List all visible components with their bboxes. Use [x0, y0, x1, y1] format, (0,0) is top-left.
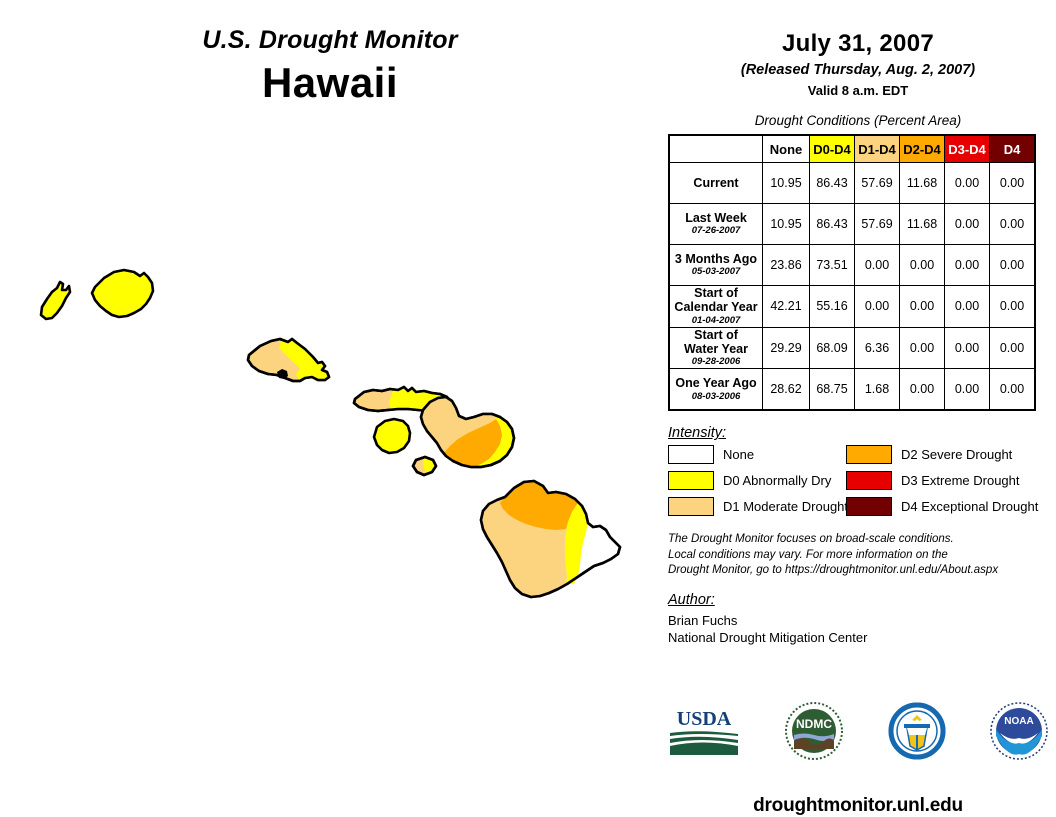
table-cell: 0.00 [945, 327, 990, 369]
table-cell: 0.00 [945, 369, 990, 411]
svg-text:NOAA: NOAA [1004, 716, 1033, 727]
table-cell: 29.29 [763, 327, 810, 369]
table-row: Start ofWater Year09-28-200629.2968.096.… [669, 327, 1035, 369]
table-cell: 0.00 [990, 286, 1036, 328]
table-cell: 6.36 [855, 327, 900, 369]
table-cell: 11.68 [900, 204, 945, 245]
legend-swatch [846, 497, 892, 516]
table-cell: 0.00 [945, 245, 990, 286]
table-cell: 0.00 [855, 286, 900, 328]
table-cell: 0.00 [900, 245, 945, 286]
legend-item: D4 Exceptional Drought [846, 497, 1046, 516]
table-cell: 57.69 [855, 204, 900, 245]
table-cell: 10.95 [763, 204, 810, 245]
table-row: Start ofCalendar Year01-04-200742.2155.1… [669, 286, 1035, 328]
table-row-subdate: 05-03-2007 [670, 267, 762, 278]
table-col-header-none: None [763, 135, 810, 163]
table-col-header-d2-d4: D2-D4 [900, 135, 945, 163]
legend-item: None [668, 445, 846, 464]
legend-item: D0 Abnormally Dry [668, 471, 846, 490]
drought-conditions-table: NoneD0-D4D1-D4D2-D4D3-D4D4 Current10.958… [668, 134, 1036, 411]
author-name: Brian Fuchs [668, 612, 1056, 630]
table-row: Current10.9586.4357.6911.680.000.00 [669, 163, 1035, 204]
table-cell: 86.43 [810, 204, 855, 245]
table-cell: 0.00 [900, 286, 945, 328]
table-cell: 0.00 [900, 369, 945, 411]
title-block: U.S. Drought Monitor Hawaii [0, 26, 660, 107]
program-title: U.S. Drought Monitor [0, 26, 660, 55]
table-row-label: Last Week07-26-2007 [669, 204, 763, 245]
legend-heading: Intensity: [668, 425, 1046, 441]
legend-swatch [846, 445, 892, 464]
disclaimer-line-1: The Drought Monitor focuses on broad-sca… [668, 532, 1048, 548]
valid-time: Valid 8 a.m. EDT [660, 83, 1056, 98]
legend-item: D1 Moderate Drought [668, 497, 846, 516]
issue-date: July 31, 2007 [660, 30, 1056, 58]
legend-swatch [668, 445, 714, 464]
table-cell: 1.68 [855, 369, 900, 411]
author-organization: National Drought Mitigation Center [668, 629, 1056, 647]
table-cell: 42.21 [763, 286, 810, 328]
table-row-label: Start ofCalendar Year01-04-2007 [669, 286, 763, 328]
svg-text:NDMC: NDMC [796, 717, 832, 731]
region-title: Hawaii [0, 59, 660, 107]
legend-label: D3 Extreme Drought [901, 473, 1020, 488]
table-row-subdate: 09-28-2006 [670, 357, 762, 368]
table-cell: 11.68 [900, 163, 945, 204]
table-row-subdate: 08-03-2006 [670, 392, 762, 403]
table-cell: 28.62 [763, 369, 810, 411]
table-cell: 68.75 [810, 369, 855, 411]
disclaimer-line-2: Local conditions may vary. For more info… [668, 548, 1048, 564]
legend-label: D0 Abnormally Dry [723, 473, 831, 488]
table-body: Current10.9586.4357.6911.680.000.00Last … [669, 163, 1035, 411]
table-header-row: NoneD0-D4D1-D4D2-D4D3-D4D4 [669, 135, 1035, 163]
table-cell: 0.00 [990, 369, 1036, 411]
table-cell: 0.00 [855, 245, 900, 286]
legend-swatch [668, 497, 714, 516]
table-cell: 10.95 [763, 163, 810, 204]
disclaimer-line-3: Drought Monitor, go to https://droughtmo… [668, 563, 1048, 579]
table-caption: Drought Conditions (Percent Area) [660, 113, 1056, 128]
table-cell: 0.00 [945, 286, 990, 328]
legend-label: D1 Moderate Drought [723, 499, 848, 514]
table-cell: 73.51 [810, 245, 855, 286]
table-row-subdate: 01-04-2007 [670, 316, 762, 327]
date-block: July 31, 2007 (Released Thursday, Aug. 2… [660, 0, 1056, 98]
legend-swatch [846, 471, 892, 490]
site-url: droughtmonitor.unl.edu [660, 795, 1056, 817]
commerce-seal-logo [888, 702, 946, 765]
table-row: Last Week07-26-200710.9586.4357.6911.680… [669, 204, 1035, 245]
island-kauai [92, 270, 153, 317]
table-cell: 68.09 [810, 327, 855, 369]
table-col-header-d0-d4: D0-D4 [810, 135, 855, 163]
table-cell: 0.00 [990, 245, 1036, 286]
table-row-label: Current [669, 163, 763, 204]
table-cell: 57.69 [855, 163, 900, 204]
table-corner-cell [669, 135, 763, 163]
table-row-subdate: 07-26-2007 [670, 226, 762, 237]
table-cell: 86.43 [810, 163, 855, 204]
table-cell: 0.00 [990, 163, 1036, 204]
island-lanai [374, 419, 410, 453]
table-row-label: One Year Ago08-03-2006 [669, 369, 763, 411]
hawaii-drought-map [0, 120, 660, 680]
legend-swatch [668, 471, 714, 490]
table-row-label: 3 Months Ago05-03-2007 [669, 245, 763, 286]
table-cell: 0.00 [945, 163, 990, 204]
ndmc-logo: NDMC [784, 701, 844, 766]
table-col-header-d4: D4 [990, 135, 1036, 163]
info-panel: July 31, 2007 (Released Thursday, Aug. 2… [660, 0, 1056, 816]
noaa-logo: NOAA [990, 702, 1048, 765]
table-cell: 23.86 [763, 245, 810, 286]
table-cell: 0.00 [900, 327, 945, 369]
disclaimer-text: The Drought Monitor focuses on broad-sca… [668, 532, 1048, 579]
table-cell: 0.00 [990, 204, 1036, 245]
legend-label: D2 Severe Drought [901, 447, 1012, 462]
intensity-legend: Intensity: NoneD2 Severe DroughtD0 Abnor… [668, 425, 1046, 516]
island-niihau [41, 282, 70, 319]
legend-item: D2 Severe Drought [846, 445, 1046, 464]
legend-item: D3 Extreme Drought [846, 471, 1046, 490]
release-date: (Released Thursday, Aug. 2, 2007) [660, 62, 1056, 78]
usda-logo: USDA [668, 705, 740, 762]
legend-label: D4 Exceptional Drought [901, 499, 1038, 514]
table-cell: 0.00 [945, 204, 990, 245]
legend-label: None [723, 447, 754, 462]
table-cell: 0.00 [990, 327, 1036, 369]
svg-text:USDA: USDA [677, 708, 732, 730]
table-cell: 55.16 [810, 286, 855, 328]
legend-grid: NoneD2 Severe DroughtD0 Abnormally DryD3… [668, 445, 1046, 516]
table-row: One Year Ago08-03-200628.6268.751.680.00… [669, 369, 1035, 411]
author-heading: Author: [668, 592, 1056, 608]
logo-row: USDA NDMC [668, 692, 1048, 774]
table-row-label: Start ofWater Year09-28-2006 [669, 327, 763, 369]
table-col-header-d3-d4: D3-D4 [945, 135, 990, 163]
author-block: Author: Brian Fuchs National Drought Mit… [668, 592, 1056, 647]
table-row: 3 Months Ago05-03-200723.8673.510.000.00… [669, 245, 1035, 286]
table-col-header-d1-d4: D1-D4 [855, 135, 900, 163]
